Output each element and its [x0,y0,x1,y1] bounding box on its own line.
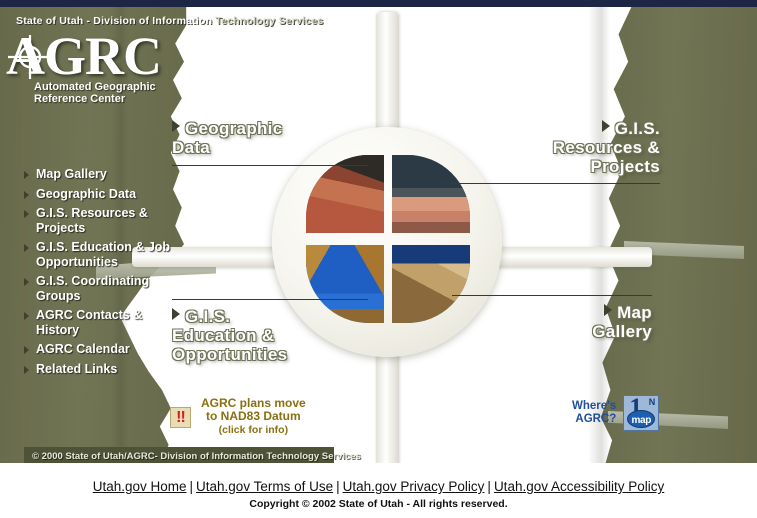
sidebar-item-map-gallery[interactable]: Map Gallery [24,167,174,182]
link-gis-resources-text: G.I.S. Resources & Projects [436,119,660,176]
top-navy-bar [0,0,757,7]
sidebar-item-label: G.I.S. Resources & Projects [36,206,174,235]
link-geographic-data-label: Geographic Data [172,119,282,157]
compass-crosshair-icon [8,35,52,79]
onemap-logo-icon[interactable]: 1 N map [623,395,659,431]
link-map-gallery[interactable]: Map Gallery [452,295,652,341]
link-gis-education[interactable]: G.I.S. Education & Opportunities [172,299,378,364]
link-geographic-data[interactable]: Geographic Data [172,119,372,166]
onemap-north-letter: N [649,397,656,407]
sidebar-item-gis-education[interactable]: G.I.S. Education & Job Opportunities [24,240,174,269]
sidebar-item-geographic-data[interactable]: Geographic Data [24,187,174,202]
nad83-line1: AGRC plans move [201,396,306,410]
footer-separator: | [484,479,494,494]
label-rule [436,183,660,184]
sidebar-item-label: AGRC Contacts & History [36,308,174,337]
footer-link-list: Utah.gov Home|Utah.gov Terms of Use|Utah… [0,478,757,496]
triangle-marker-icon [172,308,180,320]
label-rule [172,165,368,166]
footer-link-utah-home[interactable]: Utah.gov Home [93,479,187,494]
nad83-notice-text: AGRC plans move to NAD83 Datum (click fo… [201,397,306,437]
bullet-triangle-icon [24,244,29,252]
agrc-subtitle-line2: Reference Center [34,93,125,105]
banner-copyright-bar: © 2000 State of Utah/AGRC- Division of I… [24,447,334,463]
bullet-triangle-icon [24,171,29,179]
label-rule [172,299,368,300]
bullet-triangle-icon [24,346,29,354]
sidebar-item-related-links[interactable]: Related Links [24,362,174,377]
wheres-agrc-line1: Where's [572,400,616,412]
link-gis-resources[interactable]: G.I.S. Resources & Projects [436,119,660,184]
sidebar-item-label: AGRC Calendar [36,342,174,357]
label-rule [452,295,652,296]
triangle-marker-icon [604,304,612,316]
bullet-triangle-icon [24,210,29,218]
bullet-triangle-icon [24,278,29,286]
wheres-agrc-text: Where's AGRC? [572,400,616,426]
link-gis-education-text: G.I.S. Education & Opportunities [172,307,378,364]
triangle-marker-icon [172,120,180,132]
footer-separator: | [187,479,197,494]
bullet-triangle-icon [24,191,29,199]
agrc-subtitle: Automated Geographic Reference Center [34,81,156,105]
agrc-homepage: State of Utah - Division of Information … [0,0,757,518]
sidebar-nav: Map Gallery Geographic Data G.I.S. Resou… [24,167,174,381]
bullet-triangle-icon [24,312,29,320]
state-agency-faded: Technology Services [212,15,323,27]
nad83-line3: (click for info) [201,424,306,437]
banner-copyright-text: © 2000 State of Utah/AGRC- Division of I… [24,451,361,462]
footer-copyright: Copyright © 2002 State of Utah - All rig… [0,498,757,510]
page-footer: Utah.gov Home|Utah.gov Terms of Use|Utah… [0,478,757,510]
double-exclamation-icon: !! [170,407,191,428]
footer-separator: | [333,479,343,494]
link-map-gallery-label: Map Gallery [592,303,652,341]
sidebar-item-label: G.I.S. Coordinating Groups [36,274,174,303]
sidebar-item-label: Related Links [36,362,174,377]
footer-link-accessibility-policy[interactable]: Utah.gov Accessibility Policy [494,479,664,494]
triangle-marker-icon [602,120,610,132]
panel-rule-right [738,7,739,463]
link-gis-education-label: G.I.S. Education & Opportunities [172,307,287,364]
nad83-notice[interactable]: !! AGRC plans move to NAD83 Datum (click… [170,397,306,437]
hero-banner: State of Utah - Division of Information … [0,7,757,463]
footer-link-privacy-policy[interactable]: Utah.gov Privacy Policy [343,479,485,494]
wheres-agrc-widget[interactable]: Where's AGRC? 1 N map [572,395,659,431]
onemap-map-word: map [628,415,654,426]
sidebar-item-coordinating-groups[interactable]: G.I.S. Coordinating Groups [24,274,174,303]
sidebar-item-label: Geographic Data [36,187,174,202]
footer-link-terms-of-use[interactable]: Utah.gov Terms of Use [196,479,333,494]
nad83-line2: to NAD83 Datum [206,409,301,423]
sidebar-item-gis-resources[interactable]: G.I.S. Resources & Projects [24,206,174,235]
sidebar-item-agrc-calendar[interactable]: AGRC Calendar [24,342,174,357]
agrc-subtitle-line1: Automated Geographic [34,81,156,93]
link-geographic-data-text: Geographic Data [172,119,372,157]
bullet-triangle-icon [24,366,29,374]
link-map-gallery-text: Map Gallery [452,303,652,341]
sidebar-item-contacts-history[interactable]: AGRC Contacts & History [24,308,174,337]
sidebar-item-label: Map Gallery [36,167,174,182]
wheres-agrc-line2: AGRC? [575,413,616,425]
sidebar-item-label: G.I.S. Education & Job Opportunities [36,240,174,269]
